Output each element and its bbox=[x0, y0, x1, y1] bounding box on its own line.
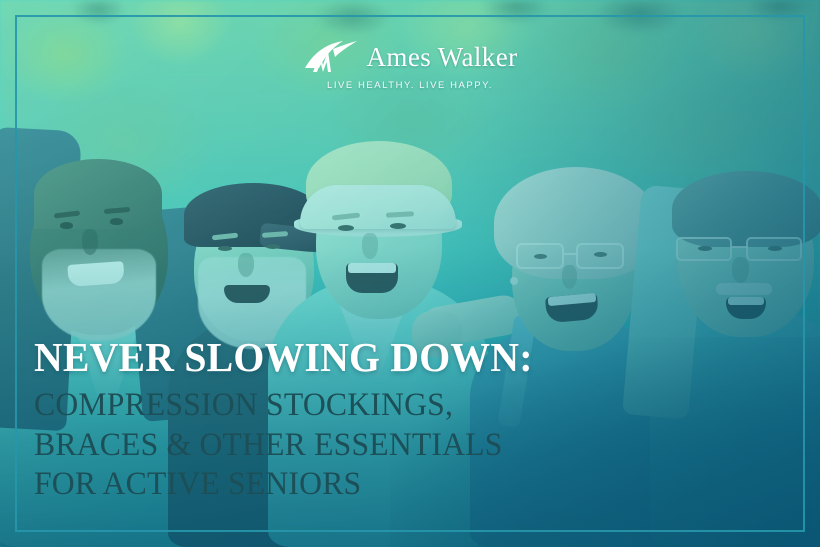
headline-block: NEVER SLOWING DOWN: COMPRESSION STOCKING… bbox=[34, 337, 674, 505]
promo-banner: Ames Walker LIVE HEALTHY. LIVE HAPPY. NE… bbox=[0, 0, 820, 547]
headline-main: NEVER SLOWING DOWN: bbox=[34, 337, 655, 379]
headline-sub-line-1: COMPRESSION STOCKINGS, bbox=[34, 386, 648, 426]
headline-sub-line-2: BRACES & OTHER ESSENTIALS bbox=[34, 426, 648, 466]
headline-sub-line-3: FOR ACTIVE SENIORS bbox=[34, 465, 648, 505]
